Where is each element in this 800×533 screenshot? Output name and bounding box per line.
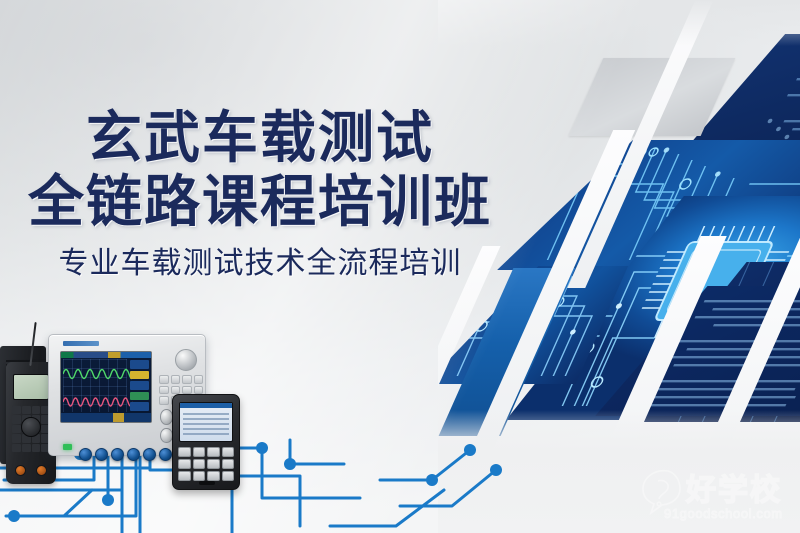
- scope-screen-topbar: [61, 352, 151, 358]
- waveform-channel-1: [63, 364, 133, 384]
- bnc-connector-4: [127, 448, 140, 461]
- scope-screen-bottombar: [61, 413, 151, 422]
- title-block: 玄武车载测试 全链路课程培训班 专业车载测试技术全流程培训: [0, 106, 520, 282]
- subtitle: 专业车载测试技术全流程培训: [0, 246, 520, 282]
- test-equipment-group: [0, 318, 320, 533]
- scope-soft-keys: [129, 359, 150, 412]
- watermark-url: 91goodschool.com: [664, 506, 783, 521]
- handheld-test-terminal: [172, 394, 240, 490]
- terminal-screen: [179, 402, 233, 442]
- watermark-brand: 好学校: [686, 465, 782, 509]
- bnc-connector-2: [95, 448, 108, 461]
- bnc-connector-5: [143, 448, 156, 461]
- collage-top-fade: [438, 0, 800, 46]
- watermark: 好学校 91goodschool.com: [638, 463, 788, 525]
- waveform-channel-2: [63, 392, 133, 412]
- title-line-1: 玄武车载测试: [0, 106, 520, 170]
- scope-screen: [60, 351, 152, 423]
- terminal-port: [199, 481, 215, 485]
- terminal-titlebar: [180, 403, 232, 408]
- analyzer-knob-left: [15, 465, 26, 476]
- bnc-connector-1: [79, 448, 92, 461]
- bnc-connector-6: [159, 448, 172, 461]
- analyzer-dial: [21, 417, 41, 437]
- analyzer-knob-right: [36, 465, 47, 476]
- scope-main-dial: [175, 349, 197, 371]
- title-line-2: 全链路课程培训班: [0, 170, 520, 234]
- terminal-keypad: [178, 447, 234, 481]
- course-banner: 玄武车载测试 全链路课程培训班 专业车载测试技术全流程培训 好学校 91good…: [0, 0, 800, 533]
- bnc-connector-3: [111, 448, 124, 461]
- scope-brand-mark: [63, 341, 99, 346]
- scope-power-led: [63, 444, 72, 450]
- analyzer-screen: [13, 374, 49, 400]
